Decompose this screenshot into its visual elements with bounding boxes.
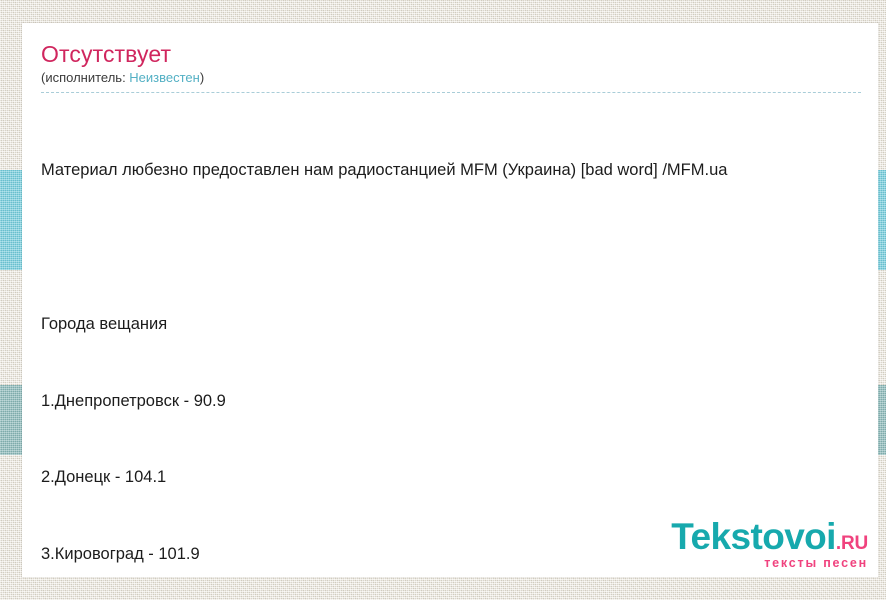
site-logo-word: Tekstovoi: [671, 516, 836, 557]
lyrics-text: Материал любезно предоставлен нам радиос…: [41, 107, 878, 577]
artist-suffix-label: ): [200, 70, 204, 85]
artist-prefix-label: (исполнитель:: [41, 70, 129, 85]
site-logo-wordmark: Tekstovoi.RU: [671, 518, 868, 555]
site-logo[interactable]: Tekstovoi.RU тексты песен: [671, 518, 868, 570]
artist-link[interactable]: Неизвестен: [129, 70, 200, 85]
lyrics-line-city: 2.Донецк - 104.1: [41, 465, 878, 491]
lyrics-line-cities-heading: Города вещания: [41, 312, 878, 338]
lyrics-line-intro: Материал любезно предоставлен нам радиос…: [41, 158, 878, 184]
lyrics-blank-line: [41, 235, 878, 261]
artist-line: (исполнитель: Неизвестен): [41, 70, 861, 93]
lyrics-card: Отсутствует (исполнитель: Неизвестен) Ма…: [22, 23, 878, 577]
site-logo-tagline: тексты песен: [671, 557, 868, 570]
page-title: Отсутствует: [41, 41, 878, 67]
lyrics-line-city: 1.Днепропетровск - 90.9: [41, 389, 878, 415]
page-root: Отсутствует (исполнитель: Неизвестен) Ма…: [0, 0, 886, 600]
lyrics-card-inner: Отсутствует (исполнитель: Неизвестен) Ма…: [22, 23, 878, 577]
site-logo-tld: .RU: [836, 533, 868, 554]
